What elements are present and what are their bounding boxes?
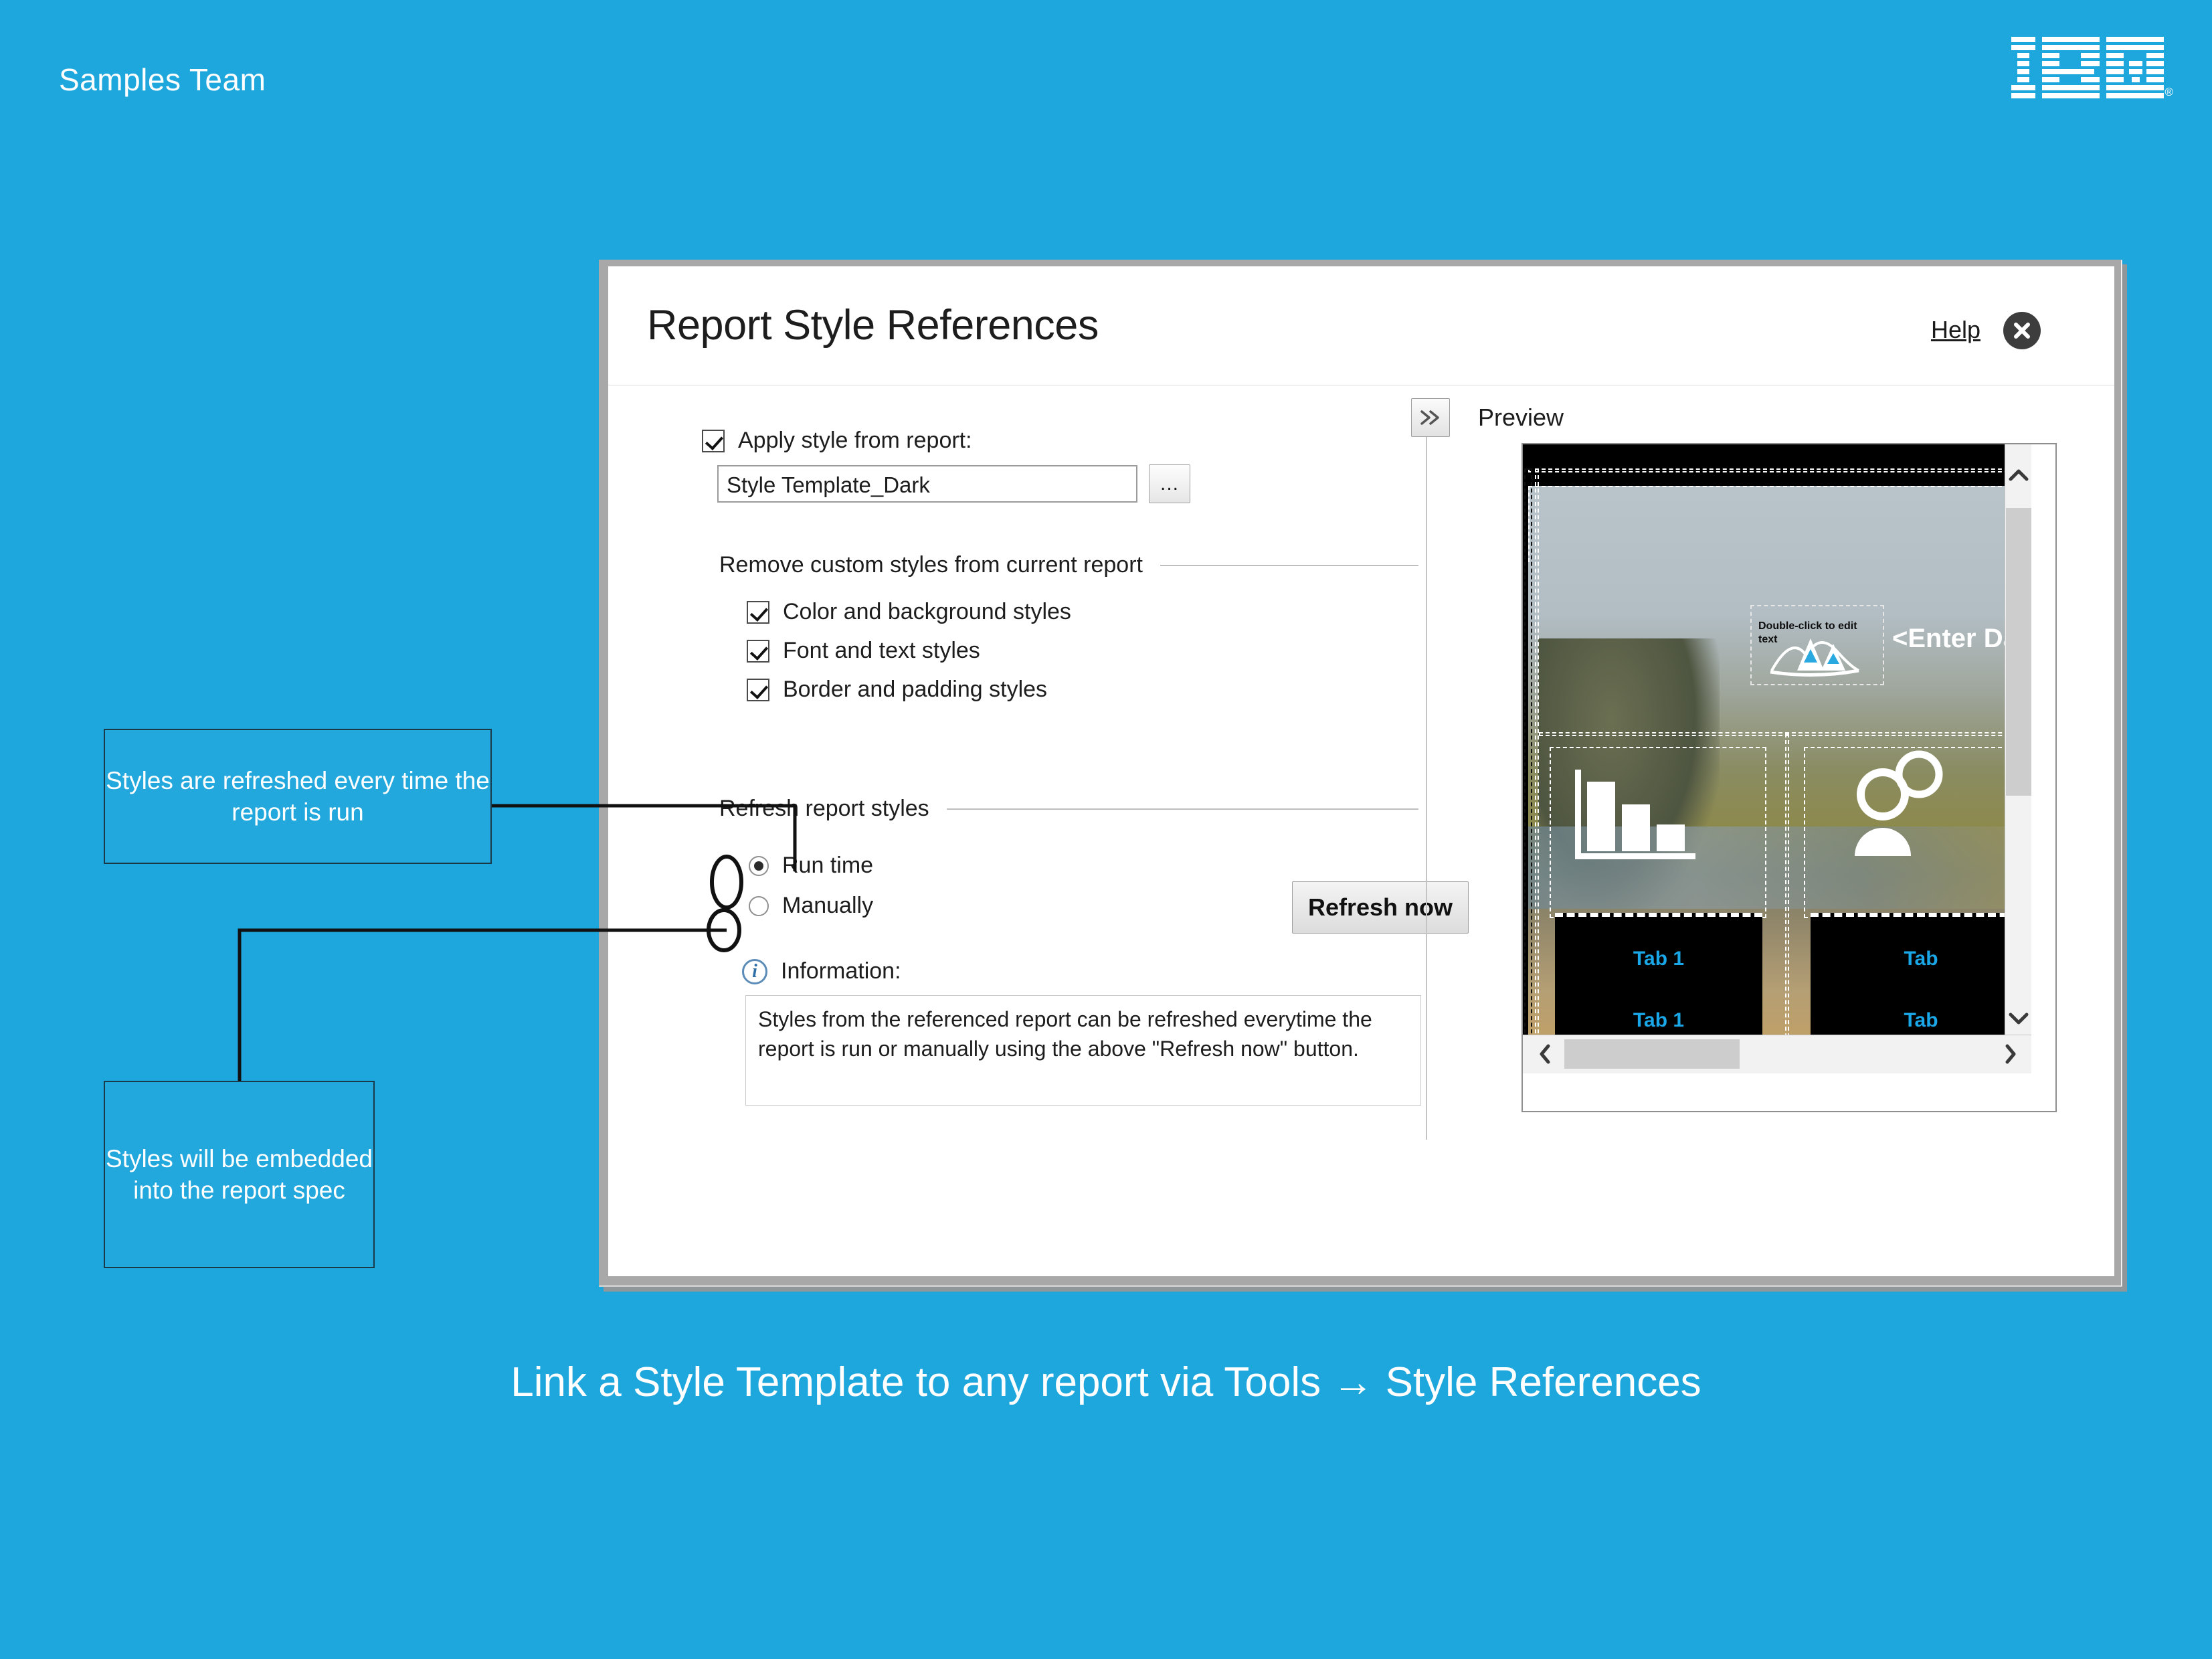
refresh-report-styles-title: Refresh report styles	[719, 796, 929, 822]
annotation-callout-manually: Styles will be embedded into the report …	[104, 1081, 375, 1268]
radio-row-manually[interactable]: Manually	[749, 893, 873, 919]
preview-tab-label: Tab	[1811, 948, 2031, 970]
preview-vertical-scroll-thumb[interactable]	[2006, 508, 2031, 796]
color-background-checkbox[interactable]	[747, 601, 769, 624]
style-reference-form: Apply style from report: Style Template_…	[608, 386, 1424, 1276]
group-divider-rule	[1160, 565, 1418, 566]
run-time-radio[interactable]	[749, 856, 769, 876]
border-padding-label: Border and padding styles	[783, 677, 1047, 703]
color-background-label: Color and background styles	[783, 599, 1071, 625]
browse-ellipsis-button[interactable]: ...	[1149, 464, 1190, 503]
help-link[interactable]: Help	[1931, 316, 1980, 344]
apply-style-from-report-row[interactable]: Apply style from report:	[702, 428, 972, 454]
chevron-right-icon[interactable]	[1995, 1038, 2026, 1070]
close-icon[interactable]	[2003, 312, 2041, 349]
preview-tab-label: Tab	[1811, 1009, 2031, 1032]
radio-row-run-time[interactable]: Run time	[749, 853, 873, 879]
page-title: Report Style References	[647, 301, 1099, 349]
bar-chart-icon	[1570, 766, 1710, 873]
double-chevron-right-icon[interactable]	[1411, 398, 1450, 437]
people-icon	[1844, 749, 1951, 869]
manually-radio[interactable]	[749, 896, 769, 916]
dialog-body: Apply style from report: Style Template_…	[608, 386, 2114, 1276]
font-text-checkbox[interactable]	[747, 640, 769, 663]
preview-top-black-band	[1523, 444, 2031, 486]
apply-style-label: Apply style from report:	[738, 428, 972, 454]
annotation-callout-run-time: Styles are refreshed every time the repo…	[104, 729, 492, 864]
preview-horizontal-scroll-thumb[interactable]	[1564, 1039, 1740, 1069]
group-divider-rule-2	[947, 808, 1418, 810]
dialog-content: Report Style References Help Apply style…	[608, 266, 2114, 1276]
information-heading: Information:	[781, 958, 901, 984]
remove-custom-styles-title: Remove custom styles from current report	[719, 552, 1143, 578]
preview-frame[interactable]: Double-click to edit text <Enter Da	[1522, 443, 2057, 1112]
preview-label: Preview	[1478, 404, 1564, 432]
slide-caption: Link a Style Template to any report via …	[0, 1359, 2212, 1406]
border-padding-checkbox[interactable]	[747, 679, 769, 701]
preview-tab-label: Tab 1	[1555, 948, 1762, 970]
preview-placeholder-text: Double-click to edit text	[1758, 620, 1872, 646]
checkbox-row-color-background[interactable]: Color and background styles	[747, 599, 1071, 625]
preview-vertical-scrollbar[interactable]	[2005, 444, 2031, 1073]
info-circle-icon: i	[742, 959, 767, 984]
preview-horizontal-scrollbar[interactable]	[1523, 1035, 2031, 1073]
chevron-down-icon[interactable]	[2005, 1000, 2031, 1037]
refresh-report-styles-group-header: Refresh report styles	[719, 796, 1418, 822]
dialog-titlebar: Report Style References Help	[608, 266, 2114, 385]
column-divider	[1426, 404, 1427, 1140]
ibm-logo	[2011, 37, 2167, 98]
preview-panel: Preview	[1438, 386, 2114, 1276]
information-heading-row: i Information:	[742, 958, 901, 984]
information-text-box: Styles from the referenced report can be…	[745, 995, 1421, 1106]
slide-team-title: Samples Team	[59, 62, 266, 98]
preview-canvas: Double-click to edit text <Enter Da	[1523, 444, 2031, 1073]
manually-label: Manually	[782, 893, 873, 919]
run-time-label: Run time	[782, 853, 873, 879]
font-text-label: Font and text styles	[783, 638, 980, 664]
preview-data-title: <Enter Da	[1892, 624, 2018, 654]
apply-style-checkbox[interactable]	[702, 430, 725, 452]
preview-tab-label: Tab 1	[1555, 1009, 1762, 1032]
checkbox-row-font-text[interactable]: Font and text styles	[747, 638, 980, 664]
style-report-input[interactable]: Style Template_Dark	[717, 465, 1137, 503]
checkbox-row-border-padding[interactable]: Border and padding styles	[747, 677, 1047, 703]
remove-custom-styles-group-header: Remove custom styles from current report	[719, 552, 1418, 578]
registered-trademark-mark: ®	[2164, 86, 2173, 99]
chevron-left-icon[interactable]	[1530, 1038, 1560, 1070]
chevron-up-icon[interactable]	[2005, 456, 2031, 494]
